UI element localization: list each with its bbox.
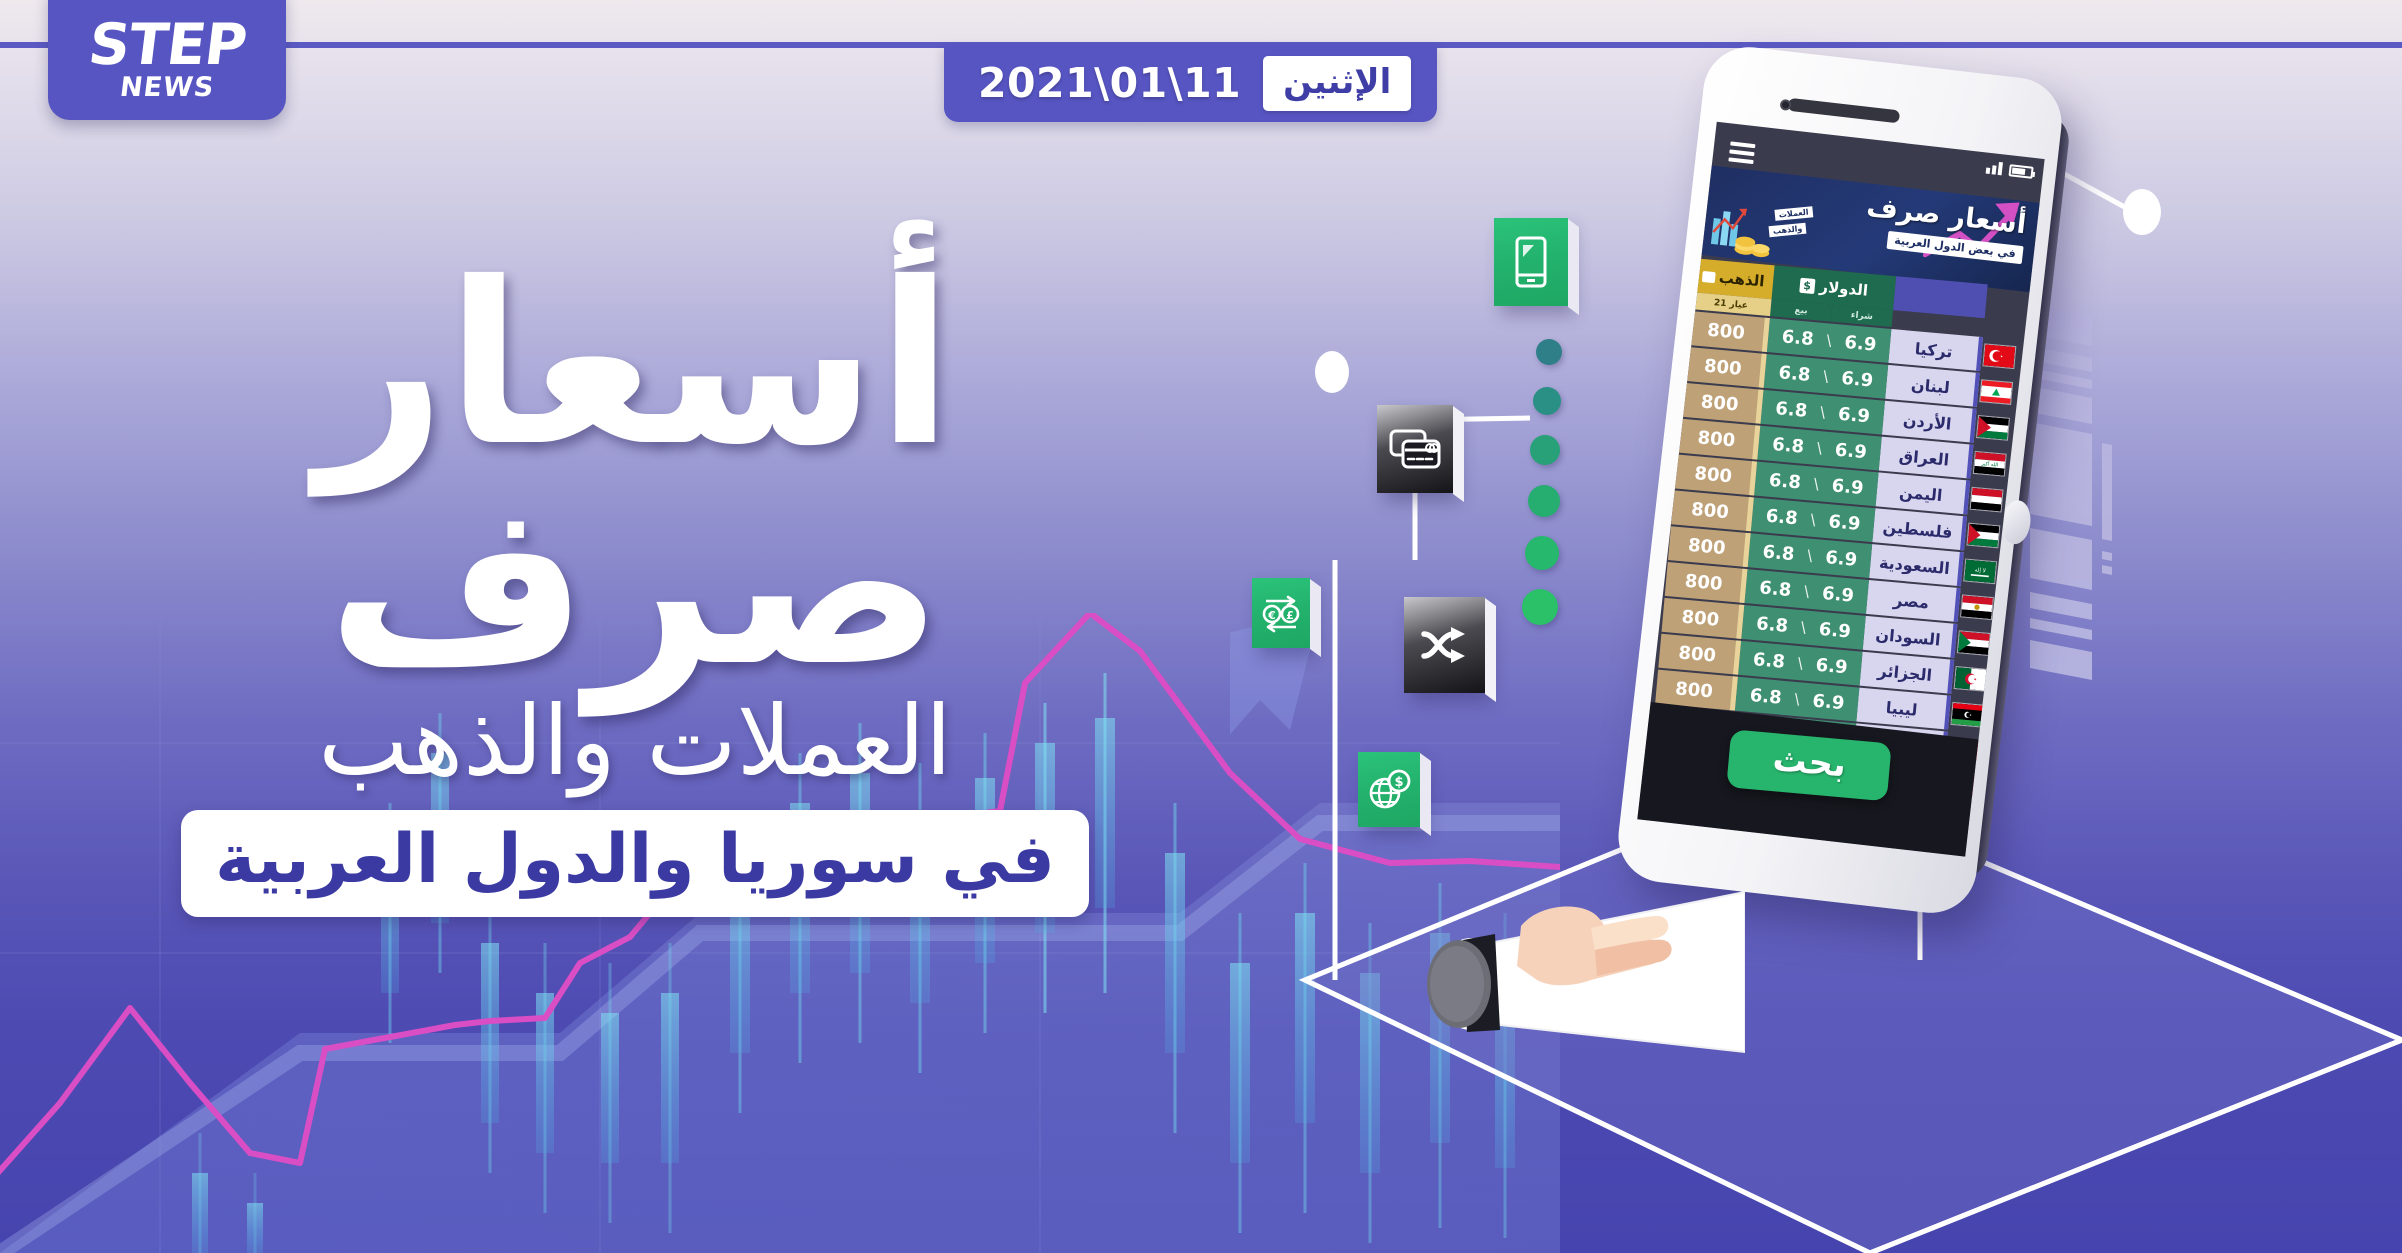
usd-rate-separator: \: [1810, 511, 1817, 529]
usd-sell-value: 6.9: [1844, 331, 1878, 355]
gold-price-cell: 800: [1678, 419, 1761, 460]
country-flag-icon: [1977, 373, 2016, 410]
tile-edge: [1420, 753, 1431, 836]
usd-buy-value: 6.8: [1759, 577, 1793, 601]
svg-text:$: $: [1394, 775, 1403, 790]
coins-chart-icon: [1708, 204, 1775, 259]
transfer-shuffle-icon-tile[interactable]: [1404, 597, 1485, 693]
gold-price-cell: 800: [1687, 311, 1770, 352]
progress-dot: [1528, 485, 1560, 517]
usd-sell-value: 6.9: [1831, 475, 1865, 499]
usd-rate-separator: \: [1800, 618, 1807, 636]
status-bar: [1986, 161, 2034, 179]
country-flag-icon: [1967, 481, 2006, 518]
progress-dot: [1533, 387, 1561, 415]
usd-buy-value: 6.8: [1755, 613, 1789, 637]
gold-price-cell: 800: [1668, 526, 1751, 567]
country-name: تركيا: [1888, 329, 1983, 371]
usd-buy-value: 6.8: [1768, 469, 1802, 493]
credit-cards-icon: [1389, 428, 1441, 470]
usd-buy-value: 6.8: [1749, 684, 1783, 708]
brand-logo[interactable]: STEP NEWS: [48, 0, 286, 120]
country-flag-icon: [1958, 588, 1997, 625]
country-flag-icon: الله أكبر: [1970, 445, 2009, 482]
usd-sell-value: 6.9: [1834, 439, 1868, 463]
usd-col-label: الدولار: [1819, 277, 1869, 299]
usd-buy-value: 6.8: [1771, 433, 1805, 457]
page-scope-badge: في سوريا والدول العربية: [181, 810, 1089, 917]
usd-rate-separator: \: [1803, 582, 1810, 600]
usd-rate-separator: \: [1797, 654, 1804, 672]
usd-sell-value: 6.9: [1821, 582, 1855, 606]
tile-edge: [1485, 598, 1496, 702]
svg-text:£: £: [1286, 609, 1294, 622]
svg-text:لا إله: لا إله: [1974, 567, 1986, 574]
usd-sell-value: 6.9: [1837, 403, 1871, 427]
country-name: فلسطين: [1872, 508, 1967, 550]
country-flag-icon: لا إله: [1961, 552, 2000, 589]
usd-rate-separator: \: [1816, 439, 1823, 457]
logo-step-text: STEP: [85, 19, 248, 73]
search-button[interactable]: بحث: [1727, 729, 1893, 801]
usd-buy-value: 6.8: [1765, 505, 1799, 529]
currency-exchange-icon: € £: [1260, 591, 1302, 635]
usd-buy-value: 6.8: [1762, 541, 1796, 565]
country-flag-icon: [1980, 337, 2019, 374]
logo-news-text: NEWS: [118, 74, 216, 101]
country-name: ليبيا: [1856, 688, 1951, 730]
pointing-hand-illustration: [1345, 872, 1745, 1102]
country-flag-icon: [1954, 624, 1993, 661]
usd-buy-value: 6.8: [1778, 362, 1812, 386]
tile-edge: [1568, 219, 1579, 315]
day-name-chip: الإثنين: [1263, 56, 1411, 111]
placeholder-bar: [2030, 422, 2092, 526]
usd-buy-value: 6.8: [1781, 326, 1815, 350]
country-name: الأردن: [1882, 401, 1977, 443]
app-tag-gold: والذهب: [1769, 223, 1807, 238]
gold-col-label: الذهب: [1718, 269, 1765, 291]
gold-price-cell: 800: [1671, 490, 1754, 531]
country-name: الجزائر: [1860, 652, 1955, 694]
app-tag-currencies: العملات: [1774, 206, 1813, 221]
progress-dot: [1536, 339, 1562, 365]
page-title: أسعار صرف: [70, 255, 1200, 694]
headline-block: أسعار صرف العملات والذهب في سوريا والدول…: [70, 255, 1200, 917]
gold-price-cell: 800: [1674, 454, 1757, 495]
global-dollar-icon-tile[interactable]: $: [1358, 752, 1420, 827]
credit-cards-icon-tile[interactable]: [1377, 405, 1453, 493]
usd-rate-separator: \: [1813, 475, 1820, 493]
usd-rate-separator: \: [1823, 367, 1830, 385]
tile-edge: [1310, 579, 1321, 657]
placeholder-bar: [2102, 443, 2112, 541]
battery-icon: [2009, 164, 2034, 179]
usd-sell-value: 6.9: [1818, 618, 1852, 642]
placeholder-bar: [2102, 565, 2112, 575]
date-text: 2021\01\11: [978, 59, 1241, 107]
country-name: العراق: [1879, 437, 1974, 479]
usd-sell-value: 6.9: [1815, 654, 1849, 678]
usd-sell-value: 6.9: [1824, 547, 1858, 571]
header-flag-col: [1985, 284, 2024, 321]
transfer-shuffle-icon: [1420, 624, 1470, 666]
global-dollar-icon: $: [1366, 768, 1412, 812]
usd-sell-value: 6.9: [1812, 690, 1846, 714]
country-name: لبنان: [1885, 365, 1980, 407]
country-name: اليمن: [1876, 472, 1971, 514]
usd-buy-value: 6.8: [1775, 398, 1809, 422]
page-subtitle: العملات والذهب: [70, 688, 1200, 796]
usd-buy-value: 6.8: [1752, 649, 1786, 673]
currency-exchange-icon-tile[interactable]: € £: [1252, 578, 1310, 648]
gold-price-cell: 800: [1658, 634, 1741, 675]
gold-price-cell: 800: [1662, 598, 1745, 639]
country-flag-icon: [1964, 516, 2003, 553]
progress-dot: [1525, 536, 1559, 570]
gold-price-cell: 800: [1665, 562, 1748, 603]
country-name: السعودية: [1869, 544, 1964, 586]
date-banner: 2021\01\11 الإثنين: [944, 44, 1437, 122]
tile-edge: [1453, 406, 1464, 502]
gold-price-cell: 800: [1684, 347, 1767, 388]
placeholder-bar: [2102, 551, 2112, 561]
usd-rate-separator: \: [1819, 403, 1826, 421]
svg-text:€: €: [1267, 609, 1276, 622]
progress-dot: [1530, 435, 1560, 465]
poster-canvas: 4.78 25 01: [0, 0, 2402, 1253]
gold-price-cell: 800: [1681, 383, 1764, 424]
mobile-icon: [1514, 235, 1548, 289]
mobile-icon-tile[interactable]: [1494, 218, 1568, 306]
country-name: مصر: [1866, 580, 1961, 622]
gold-bar-icon: [1701, 270, 1715, 282]
progress-dot: [1522, 589, 1558, 625]
country-name: السودان: [1863, 616, 1958, 658]
usd-rate-separator: \: [1826, 331, 1833, 349]
usd-rate-separator: \: [1807, 546, 1814, 564]
signal-bars-icon: [1986, 161, 2003, 176]
hamburger-icon[interactable]: [1728, 141, 1756, 168]
usd-sell-value: 6.9: [1828, 511, 1862, 535]
usd-sell-value: 6.9: [1840, 367, 1874, 391]
usd-rate-separator: \: [1794, 690, 1801, 708]
dollar-badge-icon: $: [1799, 277, 1815, 293]
country-flag-icon: [1974, 409, 2013, 446]
